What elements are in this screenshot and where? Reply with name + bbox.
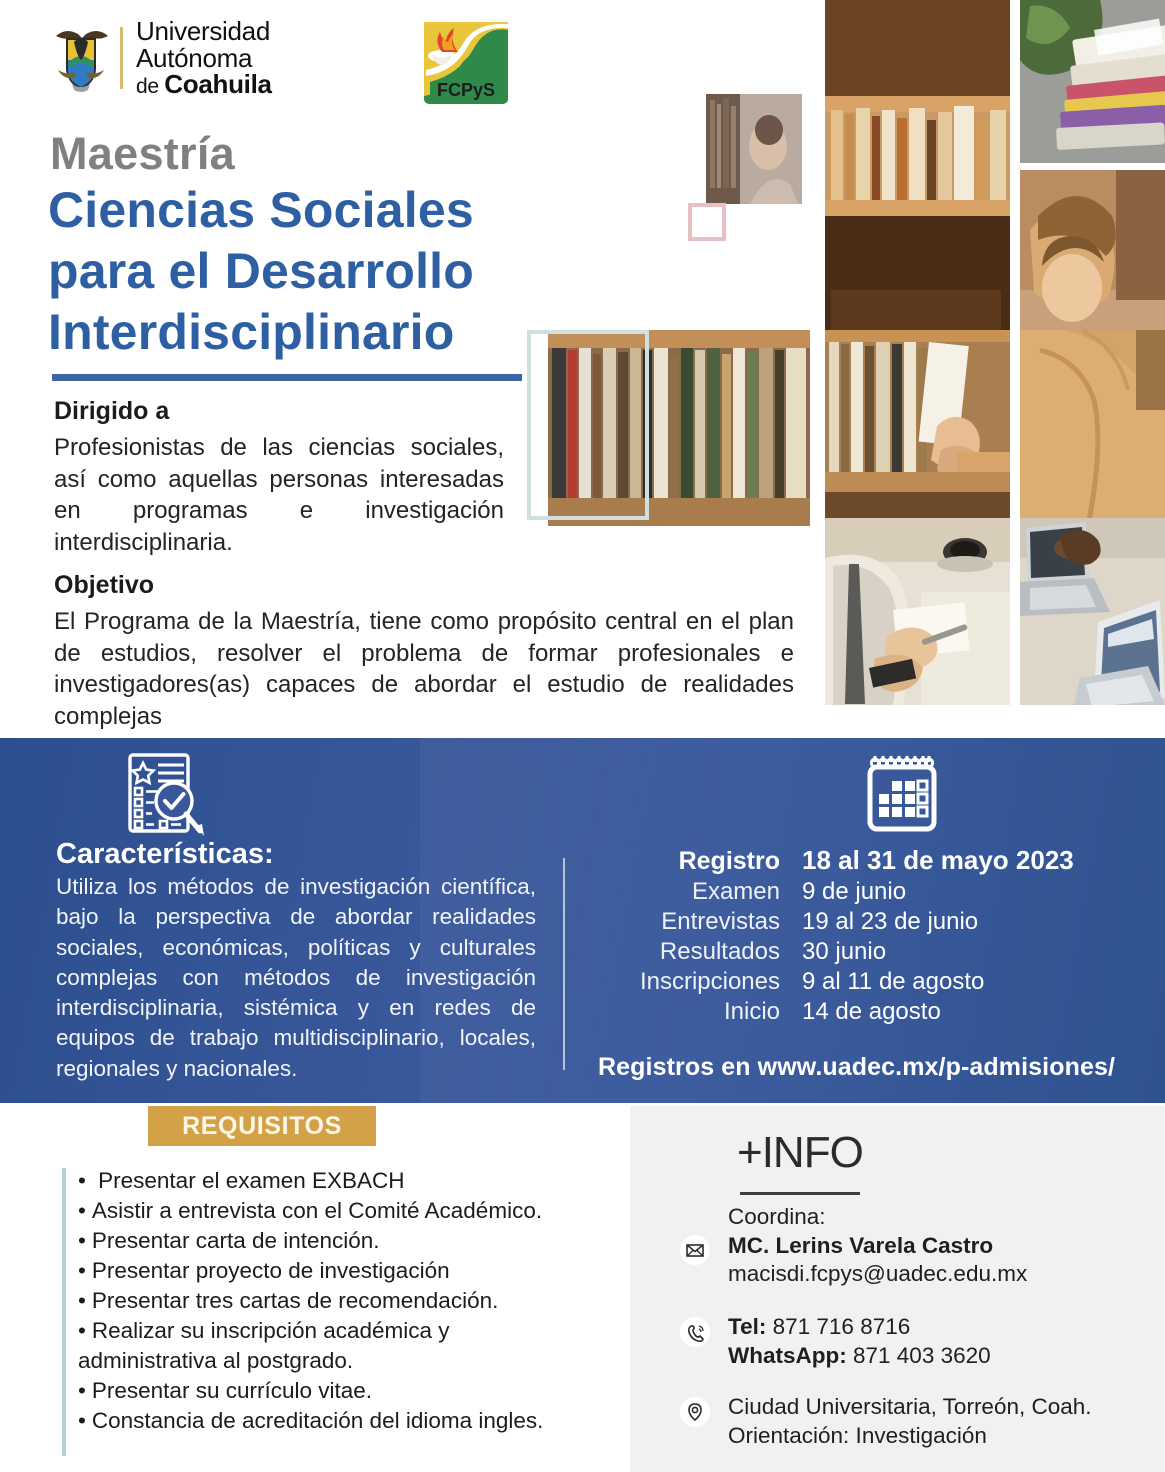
list-item: •Constancia de acreditación del idioma i… (78, 1406, 598, 1436)
info-title: +INFO (737, 1128, 863, 1178)
date-row: Examen 9 de junio (612, 878, 1132, 906)
list-item-label: Presentar carta de intención. (92, 1228, 380, 1253)
date-label: Entrevistas (612, 908, 802, 936)
date-label: Registro (612, 847, 802, 876)
collage-photo-sweater (1020, 330, 1165, 526)
list-item: •Realizar su inscripción académica y (78, 1316, 598, 1346)
list-item: •Presentar su currículo vitae. (78, 1376, 598, 1406)
decorative-teal-frame (527, 330, 649, 520)
collage-photo-library-aisle (706, 94, 802, 204)
dirigido-text: Profesionistas de las ciencias sociales,… (54, 432, 504, 559)
list-item: •Presentar tres cartas de recomendación. (78, 1286, 598, 1316)
university-name-line2: Autónoma (136, 45, 272, 72)
bullet: • (78, 1288, 86, 1313)
date-value: 9 de junio (802, 878, 906, 906)
date-row: Inscripciones 9 al 11 de agosto (612, 968, 1132, 996)
tel-label: Tel: (728, 1314, 766, 1339)
bullet: • (78, 1198, 86, 1223)
university-name-line1: Universidad (136, 18, 272, 45)
objetivo-text: El Programa de la Maestría, tiene como p… (54, 606, 794, 733)
date-row: Registro 18 al 31 de mayo 2023 (612, 845, 1132, 876)
calendar-icon (866, 752, 938, 834)
contact-location-block: Ciudad Universitaria, Torreón, Coah. Ori… (680, 1393, 1160, 1450)
collage-photo-bookshelf-top (825, 0, 1010, 330)
location-pin-icon (680, 1397, 710, 1427)
caracteristicas-text: Utiliza los métodos de investigación cie… (56, 872, 536, 1084)
collage-photo-writing-desk (825, 518, 1010, 705)
collage-photo-hand-book (825, 330, 1010, 526)
title-underline (52, 374, 522, 381)
list-item: •Asistir a entrevista con el Comité Acad… (78, 1196, 598, 1226)
location-text: Ciudad Universitaria, Torreón, Coah. (728, 1393, 1160, 1422)
university-name-line3: de Coahuila (136, 71, 272, 98)
panel-vertical-divider (563, 858, 565, 1070)
poster-root: Universidad Autónoma de Coahuila FCPyS M… (0, 0, 1165, 1472)
dirigido-heading: Dirigido a (54, 397, 169, 426)
whatsapp-value: 871 403 3620 (853, 1343, 991, 1368)
logo-divider (120, 27, 123, 89)
decorative-pink-square (688, 203, 726, 241)
bullet: • (78, 1318, 86, 1343)
list-item-label: Presentar el examen EXBACH (92, 1168, 405, 1193)
date-row: Resultados 30 junio (612, 938, 1132, 966)
list-item-label: Constancia de acreditación del idioma in… (92, 1408, 544, 1433)
bullet: • (78, 1168, 86, 1193)
list-item-label: Realizar su inscripción académica y (92, 1318, 450, 1343)
contact-email[interactable]: macisdi.fcpys@uadec.edu.mx (728, 1260, 1150, 1289)
list-item-continuation: administrativa al postgrado. (78, 1346, 598, 1376)
coat-of-arms-icon (52, 22, 110, 94)
tel-value: 871 716 8716 (773, 1314, 911, 1339)
date-value: 18 al 31 de mayo 2023 (802, 845, 1074, 876)
requisitos-list: • Presentar el examen EXBACH •Asistir a … (78, 1166, 598, 1436)
date-value: 19 al 23 de junio (802, 908, 978, 936)
faculty-logo: FCPyS (420, 16, 512, 108)
phone-icon (680, 1317, 710, 1347)
requisitos-accent-bar (62, 1168, 66, 1456)
page-title: Ciencias Sociales para el Desarrollo Int… (48, 180, 474, 363)
caracteristicas-heading: Características: (56, 838, 274, 871)
list-item-label: Presentar tres cartas de recomendación. (92, 1288, 498, 1313)
list-item-label: Presentar su currículo vitae. (92, 1378, 372, 1403)
date-label: Resultados (612, 938, 802, 966)
date-value: 30 junio (802, 938, 886, 966)
date-label: Inscripciones (612, 968, 802, 996)
coordina-label: Coordina: (728, 1203, 1150, 1232)
page-eyebrow: Maestría (50, 128, 235, 180)
bullet: • (78, 1228, 86, 1253)
collage-photo-books-stack (1020, 0, 1165, 163)
info-underline (740, 1192, 860, 1195)
university-name-coahuila: Coahuila (164, 69, 271, 99)
list-item: •Presentar proyecto de investigación (78, 1256, 598, 1286)
bullet: • (78, 1258, 86, 1283)
contact-email-block[interactable]: Coordina: MC. Lerins Varela Castro macis… (680, 1203, 1150, 1289)
coordinator-name: MC. Lerins Varela Castro (728, 1232, 1150, 1261)
date-value: 14 de agosto (802, 998, 941, 1026)
top-section: Universidad Autónoma de Coahuila FCPyS M… (0, 0, 1165, 738)
whatsapp-label: WhatsApp: (728, 1343, 847, 1368)
date-row: Entrevistas 19 al 23 de junio (612, 908, 1132, 936)
date-row: Inicio 14 de agosto (612, 998, 1132, 1026)
collage-photo-laptops (1020, 518, 1165, 705)
bullet: • (78, 1378, 86, 1403)
orientation-text: Orientación: Investigación (728, 1422, 1160, 1451)
list-item-label: Asistir a entrevista con el Comité Acadé… (92, 1198, 542, 1223)
date-value: 9 al 11 de agosto (802, 968, 984, 996)
checklist-magnifier-icon (124, 752, 206, 838)
university-name-de: de (136, 75, 164, 98)
list-item-label: Presentar proyecto de investigación (92, 1258, 450, 1283)
whatsapp-line: WhatsApp: 871 403 3620 (728, 1342, 1150, 1371)
date-label: Examen (612, 878, 802, 906)
registration-url[interactable]: Registros en www.uadec.mx/p-admisiones/ (598, 1053, 1115, 1082)
list-item: • Presentar el examen EXBACH (78, 1166, 598, 1196)
requisitos-badge: REQUISITOS (148, 1106, 376, 1146)
contact-phone-block[interactable]: Tel: 871 716 8716 WhatsApp: 871 403 3620 (680, 1313, 1150, 1370)
objetivo-heading: Objetivo (54, 571, 154, 600)
date-label: Inicio (612, 998, 802, 1026)
faculty-logo-text: FCPyS (437, 80, 495, 100)
university-logo: Universidad Autónoma de Coahuila (52, 18, 272, 98)
phone-line: Tel: 871 716 8716 (728, 1313, 1150, 1342)
bullet: • (78, 1408, 86, 1433)
calendar-dates-list: Registro 18 al 31 de mayo 2023 Examen 9 … (612, 845, 1132, 1028)
list-item: •Presentar carta de intención. (78, 1226, 598, 1256)
envelope-icon (680, 1235, 710, 1265)
